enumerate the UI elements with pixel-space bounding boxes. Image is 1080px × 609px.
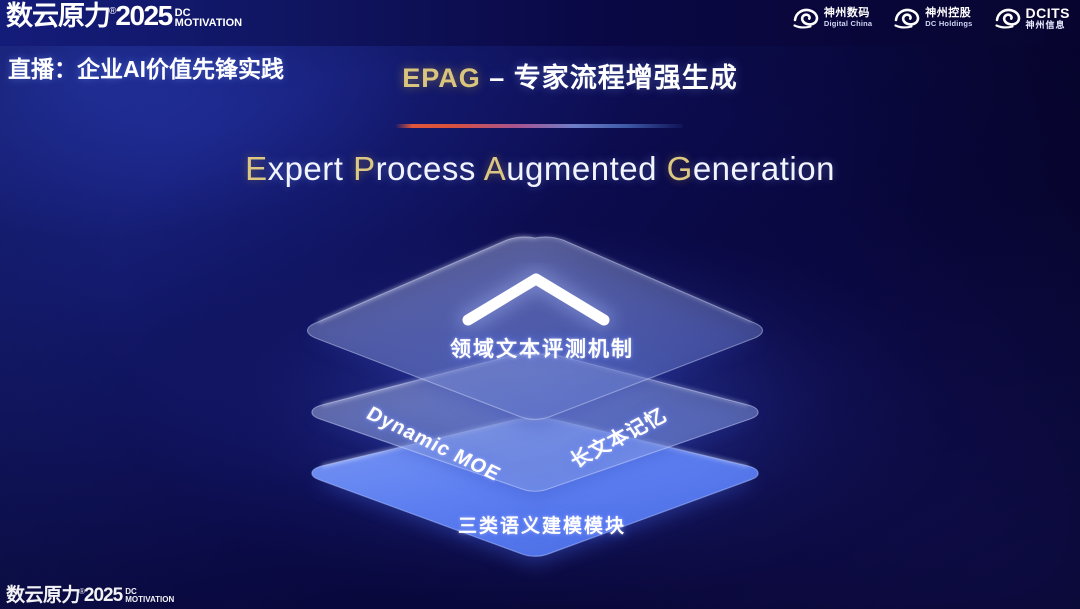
footer-brand-name-cn: 数云原力 <box>6 586 80 605</box>
footer-brand-year: 2025 <box>84 586 122 605</box>
footer-brand-subtitle: DC MOTIVATION <box>125 588 174 603</box>
slide-root: 数云原力®2025 DC MOTIVATION 直播：企业AI价值先锋实践 神州… <box>0 0 1080 609</box>
brand-logo-footer: 数云原力®2025 DC MOTIVATION <box>6 2 1070 605</box>
footer-brand-registered-mark: ® <box>79 587 85 596</box>
footer-brand-subtitle-line2: MOTIVATION <box>125 596 174 603</box>
